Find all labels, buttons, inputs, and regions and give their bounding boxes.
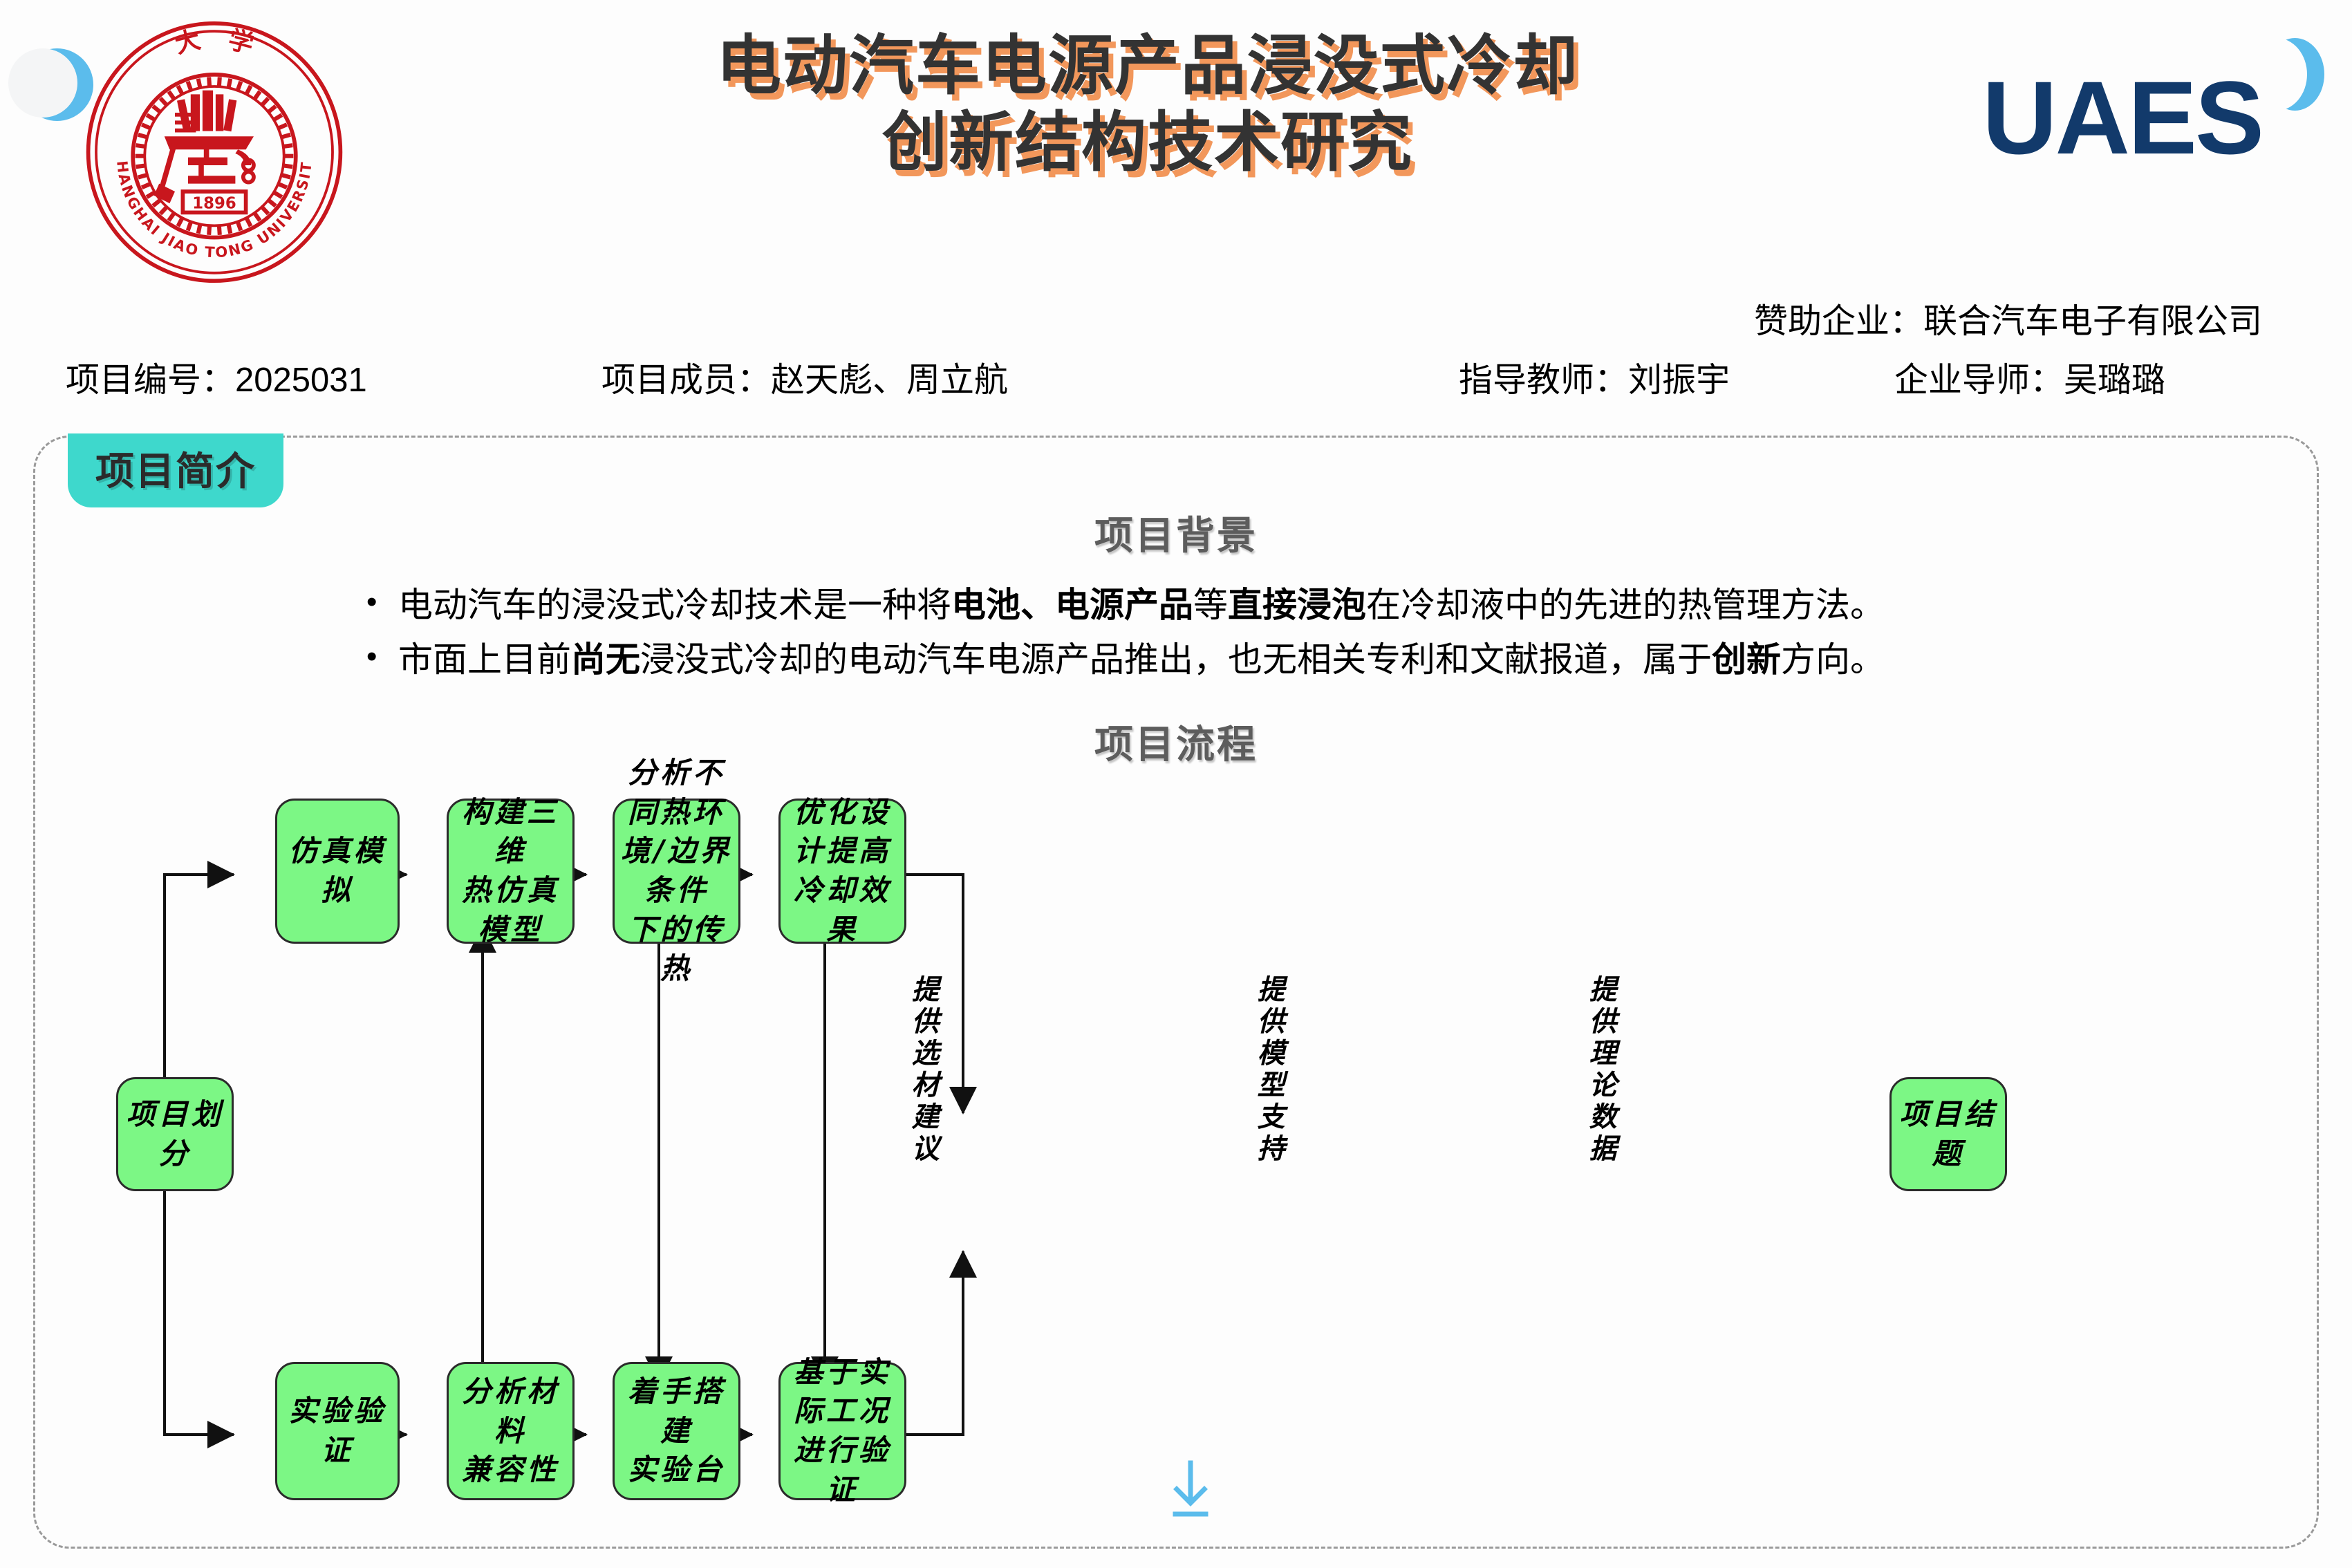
uaes-wordmark: UAES: [1982, 66, 2262, 169]
flow-node-label: 实验验证: [277, 1392, 398, 1470]
flow-node-experiment[interactable]: 实验验证: [275, 1362, 400, 1500]
flow-node-label: 构建三维 热仿真模型: [449, 793, 572, 950]
flow-node-thermal-analysis[interactable]: 分析不同热环 境/边界条件 下的传热: [613, 799, 740, 944]
flow-node-label: 分析材料 兼容性: [449, 1372, 572, 1490]
panel-tab-project-intro[interactable]: 项目简介: [68, 433, 283, 507]
title-line-2: 创新结构技术研究: [525, 104, 1770, 181]
svg-text:大 学: 大 学: [144, 24, 284, 71]
project-code: 项目编号：2025031: [66, 353, 367, 402]
project-flow-diagram: 项目划分 仿真模拟 构建三维 热仿真模型 分析不同热环 境/边界条件 下的传热 …: [33, 767, 2319, 1535]
sponsor-company: 赞助企业：联合汽车电子有限公司: [1754, 294, 2262, 343]
bullet-marker: •: [366, 635, 398, 678]
flow-node-verify[interactable]: 基于实际工况 进行验证: [778, 1362, 906, 1500]
svg-text:1896: 1896: [192, 195, 236, 213]
flow-node-label: 项目划分: [118, 1095, 232, 1173]
flow-node-optimize[interactable]: 优化设计提高 冷却效果: [778, 799, 906, 944]
panel-tab-label: 项目简介: [95, 449, 256, 493]
page-title: 电动汽车电源产品浸没式冷却 创新结构技术研究: [525, 28, 1770, 181]
uaes-brand-logo: UAES: [1982, 66, 2262, 169]
flow-node-material-compat[interactable]: 分析材料 兼容性: [447, 1362, 575, 1500]
bullet-item: •市面上目前尚无浸没式冷却的电动汽车电源产品推出，也无相关专利和文献报道，属于创…: [366, 635, 2095, 684]
flow-node-label: 优化设计提高 冷却效果: [781, 793, 904, 950]
flow-edge-label-theory: 提供理论数据: [1583, 975, 1618, 1166]
download-icon[interactable]: [1170, 1460, 1211, 1522]
flow-edge-label-model: 提供模型支持: [1251, 975, 1286, 1166]
project-advisor: 指导教师：刘振宇: [1459, 353, 1730, 402]
heading-project-flow: 项目流程: [33, 713, 2319, 769]
bullet-text: 市面上目前尚无浸没式冷却的电动汽车电源产品推出，也无相关专利和文献报道，属于创新…: [398, 635, 1885, 684]
flow-node-3d-model[interactable]: 构建三维 热仿真模型: [447, 799, 575, 944]
crescent-white-disc: [8, 48, 77, 118]
project-meta-row: 项目编号：2025031 项目成员：赵天彪、周立航 指导教师：刘振宇 企业导师：…: [0, 353, 2352, 401]
flow-node-label: 项目结题: [1892, 1095, 2005, 1173]
background-bullet-list: •电动汽车的浸没式冷却技术是一种将电池、电源产品等直接浸泡在冷却液中的先进的热管…: [366, 581, 2095, 690]
flow-node-end[interactable]: 项目结题: [1889, 1077, 2007, 1191]
project-members: 项目成员：赵天彪、周立航: [601, 353, 1008, 402]
bullet-text: 电动汽车的浸没式冷却技术是一种将电池、电源产品等直接浸泡在冷却液中的先进的热管理…: [398, 581, 1885, 630]
crescent-decoration-right: [2266, 38, 2324, 111]
flow-node-start[interactable]: 项目划分: [116, 1077, 234, 1191]
flow-node-simulation[interactable]: 仿真模拟: [275, 799, 400, 944]
sjtu-seal-logo: 1896 大 学 SHANGHAI JIAO TONG UNIVERSITY: [83, 21, 346, 283]
heading-project-background: 项目背景: [33, 505, 2319, 561]
flow-node-label: 仿真模拟: [277, 832, 398, 910]
flow-node-label: 着手搭建 实验台: [615, 1372, 738, 1490]
title-line-1: 电动汽车电源产品浸没式冷却: [525, 28, 1770, 104]
flow-node-label: 分析不同热环 境/边界条件 下的传热: [615, 754, 738, 989]
flow-node-label: 基于实际工况 进行验证: [781, 1353, 904, 1510]
flow-edge-label-material: 提供选材建议: [906, 975, 940, 1166]
project-mentor: 企业导师：吴璐璐: [1894, 353, 2165, 402]
bullet-item: •电动汽车的浸没式冷却技术是一种将电池、电源产品等直接浸泡在冷却液中的先进的热管…: [366, 581, 2095, 630]
flow-node-test-bench[interactable]: 着手搭建 实验台: [613, 1362, 740, 1500]
poster-canvas: 1896 大 学 SHANGHAI JIAO TONG UNIVERSITY 电…: [0, 0, 2352, 1568]
bullet-marker: •: [366, 581, 398, 624]
